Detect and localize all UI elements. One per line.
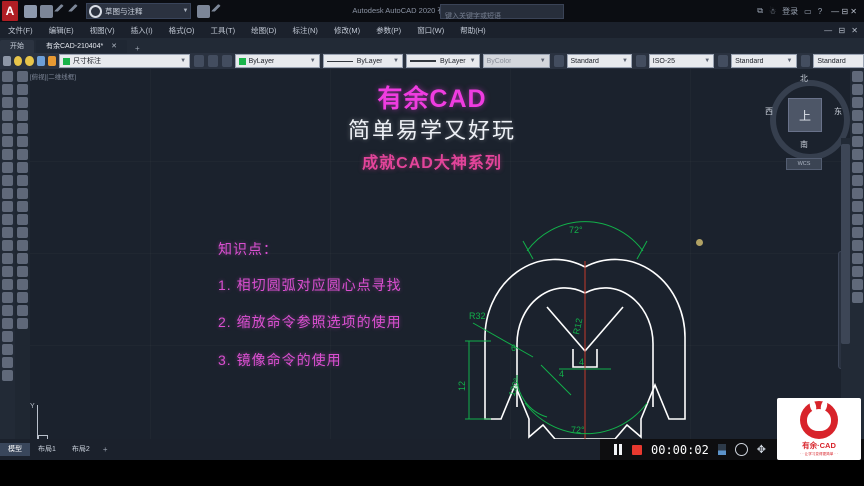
- menu-item-file[interactable]: 文件(F): [0, 25, 41, 36]
- point-icon[interactable]: [17, 240, 28, 251]
- tab-start[interactable]: 开始: [0, 40, 34, 53]
- slide-title-main: 有余CAD: [0, 79, 864, 115]
- dimension-style-icon[interactable]: [636, 55, 646, 67]
- region-icon[interactable]: [17, 279, 28, 290]
- customize-qat-icon[interactable]: [211, 3, 227, 19]
- design-center-icon[interactable]: [852, 201, 863, 212]
- signin-label[interactable]: 登录: [782, 6, 798, 17]
- tool-palettes-icon[interactable]: [852, 214, 863, 225]
- cad-drawing[interactable]: 72° R32 6 R12 4 12 120° 4: [455, 189, 715, 439]
- multileader-style-icon[interactable]: [801, 55, 811, 67]
- gear-icon: [89, 5, 102, 18]
- document-window-controls[interactable]: — ⊟ ✕: [824, 26, 860, 35]
- dim-120: 120°: [507, 376, 522, 397]
- layer-combo[interactable]: 尺寸标注 ▼: [59, 54, 190, 68]
- vertical-scrollbar[interactable]: [841, 138, 850, 439]
- scale-icon[interactable]: [2, 162, 13, 173]
- ucs-y-label: Y: [30, 403, 35, 410]
- hatch-icon[interactable]: [17, 253, 28, 264]
- table-style-icon[interactable]: [718, 55, 728, 67]
- rabbit-logo-icon: [800, 401, 838, 439]
- view-cube[interactable]: 上 北 南 西 东 WCS: [762, 74, 846, 160]
- menu-item-insert[interactable]: 插入(I): [123, 25, 161, 36]
- layer-value: 尺寸标注: [73, 56, 101, 66]
- linetype-preview-icon: [327, 61, 353, 62]
- ellipse-arc-icon[interactable]: [17, 201, 28, 212]
- search-input[interactable]: 键入关键字或短语: [440, 4, 564, 19]
- spline-icon[interactable]: [17, 175, 28, 186]
- mouse-cursor: [694, 237, 705, 248]
- view-cube-south[interactable]: 南: [800, 139, 808, 150]
- ellipse-icon[interactable]: [17, 188, 28, 199]
- workspace-label: 草图与注释: [105, 6, 143, 17]
- new-layout-button[interactable]: +: [98, 445, 113, 454]
- leader-icon[interactable]: [2, 331, 13, 342]
- chamfer-icon[interactable]: [2, 240, 13, 251]
- multileader-style-value: Standard: [817, 58, 845, 65]
- add-selected-icon[interactable]: [17, 318, 28, 329]
- move-icon[interactable]: [2, 136, 13, 147]
- polyline-icon[interactable]: [17, 97, 28, 108]
- redo-icon[interactable]: [68, 3, 84, 19]
- insert-block-icon[interactable]: [17, 214, 28, 225]
- line-icon[interactable]: [17, 71, 28, 82]
- zoom-scale-icon[interactable]: [852, 97, 863, 108]
- circle-icon[interactable]: [17, 149, 28, 160]
- polygon-icon[interactable]: [17, 110, 28, 121]
- watermark-logo: 有余·CAD · · 让学习变得更简单 · ·: [777, 398, 861, 460]
- chevron-down-icon[interactable]: ▼: [180, 58, 186, 64]
- quick-access-toolbar: A 草图与注释 ▼: [0, 0, 224, 22]
- chevron-down-icon[interactable]: ▼: [622, 58, 628, 64]
- view-cube-east[interactable]: 东: [834, 106, 842, 117]
- join-icon[interactable]: [2, 227, 13, 238]
- tab-drawing-label: 有余CAD-210404*: [46, 43, 103, 50]
- chevron-down-icon[interactable]: ▼: [704, 58, 710, 64]
- menu-item-format[interactable]: 格式(O): [161, 25, 203, 36]
- table-style-value: Standard: [735, 58, 763, 65]
- tab-layout1[interactable]: 布局1: [30, 443, 64, 456]
- view-cube-north[interactable]: 北: [800, 73, 808, 84]
- text-style-combo[interactable]: Standard ▼: [567, 54, 632, 68]
- volume-icon[interactable]: [718, 444, 726, 455]
- lineweight-preview-icon: [410, 60, 436, 62]
- autocad-logo-icon[interactable]: A: [2, 1, 18, 21]
- layer-color-swatch: [63, 58, 70, 65]
- properties-icon[interactable]: [852, 188, 863, 199]
- object-color-swatch: [239, 58, 246, 65]
- break-icon[interactable]: [2, 214, 13, 225]
- pause-button[interactable]: [614, 444, 623, 455]
- chevron-down-icon[interactable]: ▼: [787, 58, 793, 64]
- tab-model[interactable]: 模型: [0, 443, 30, 456]
- menu-item-parametric[interactable]: 参数(P): [368, 25, 409, 36]
- view-cube-west[interactable]: 西: [765, 106, 773, 117]
- letterbox-bottom: [0, 460, 864, 486]
- menu-item-edit[interactable]: 编辑(E): [41, 25, 82, 36]
- offset-icon[interactable]: [2, 110, 13, 121]
- left-toolbar-modify[interactable]: [0, 69, 15, 441]
- make-block-icon[interactable]: [17, 227, 28, 238]
- watermark-name: 有余·CAD: [802, 440, 836, 451]
- copy-icon[interactable]: [2, 84, 13, 95]
- linear-dimension-icon[interactable]: [2, 279, 13, 290]
- dimension-style-combo[interactable]: ISO-25 ▼: [649, 54, 714, 68]
- watermark-sub: · · 让学习变得更简单 · ·: [800, 452, 838, 457]
- fillet-icon[interactable]: [2, 253, 13, 264]
- text-style-icon[interactable]: [554, 55, 564, 67]
- user-icon[interactable]: ☃: [769, 7, 776, 16]
- text-tool-icon[interactable]: [852, 266, 863, 277]
- layer-on-icon[interactable]: [14, 56, 22, 66]
- new-file-icon[interactable]: [24, 5, 37, 18]
- dim-4-lower: 4: [559, 369, 564, 379]
- menu-bar: 文件(F) 编辑(E) 视图(V) 插入(I) 格式(O) 工具(T) 绘图(D…: [0, 22, 864, 38]
- rectangle-icon[interactable]: [17, 123, 28, 134]
- xref-icon[interactable]: [852, 292, 863, 303]
- dim-12: 12: [457, 381, 467, 391]
- plotstyle-value: ByColor: [487, 58, 512, 65]
- view-cube-top-face[interactable]: 上: [788, 98, 822, 132]
- chevron-down-icon: ▼: [540, 58, 546, 64]
- undo-icon[interactable]: [54, 3, 70, 19]
- layer-lock-icon[interactable]: [48, 56, 56, 66]
- multileader-style-combo[interactable]: Standard: [813, 54, 864, 68]
- autocad-window: A 草图与注释 ▼ Autodesk AutoCAD 2020 有余CAD-21…: [0, 0, 864, 486]
- tab-drawing[interactable]: 有余CAD-210404* ✕: [36, 40, 127, 53]
- menu-item-draw[interactable]: 绘图(D): [243, 25, 284, 36]
- title-bar-right: ⧉ ☃ 登录 ▭ ? — ⊟ ✕: [757, 0, 860, 22]
- quick-calc-icon[interactable]: [852, 253, 863, 264]
- tab-layout2[interactable]: 布局2: [64, 443, 98, 456]
- app-store-icon[interactable]: ▭: [804, 7, 812, 16]
- erase-icon[interactable]: [2, 71, 13, 82]
- trim-icon[interactable]: [2, 188, 13, 199]
- left-toolbar-draw[interactable]: [15, 69, 30, 441]
- settings-icon[interactable]: [735, 443, 748, 456]
- angular-dimension-icon[interactable]: [2, 318, 13, 329]
- dim-r32: R32: [469, 311, 486, 321]
- zoom-center-icon[interactable]: [852, 110, 863, 121]
- linetype-value: ByLayer: [357, 58, 383, 65]
- arc-icon[interactable]: [17, 136, 28, 147]
- dim-4-center: 4: [579, 357, 584, 367]
- multiline-text-icon[interactable]: [17, 305, 28, 316]
- properties-toolbar: 尺寸标注 ▼ ByLayer ▼ ByLayer ▼ ByLayer ▼ ByC…: [0, 53, 864, 69]
- dim-style-icon[interactable]: [2, 370, 13, 381]
- tolerance-icon[interactable]: [2, 344, 13, 355]
- construction-line-icon[interactable]: [17, 84, 28, 95]
- extend-icon[interactable]: [2, 201, 13, 212]
- move-handle-icon[interactable]: ✥: [757, 443, 766, 456]
- save-icon[interactable]: [40, 5, 53, 18]
- knowledge-point-2: 2. 缩放命令参照选项的使用: [218, 312, 402, 332]
- dimension-style-value: ISO-25: [653, 58, 675, 65]
- layer-sun-icon[interactable]: [25, 56, 33, 66]
- chevron-down-icon[interactable]: ▼: [393, 58, 399, 64]
- menu-item-modify[interactable]: 修改(M): [326, 25, 368, 36]
- close-icon[interactable]: ✕: [111, 43, 117, 50]
- window-controls[interactable]: — ⊟ ✕: [828, 7, 860, 16]
- stop-button[interactable]: [632, 445, 642, 455]
- center-mark-icon[interactable]: [2, 357, 13, 368]
- explode-icon[interactable]: [2, 266, 13, 277]
- mirror-icon[interactable]: [2, 97, 13, 108]
- zoom-object-icon[interactable]: [852, 123, 863, 134]
- aligned-dimension-icon[interactable]: [2, 292, 13, 303]
- knowledge-header: 知识点：: [218, 239, 278, 259]
- zoom-window-icon[interactable]: [852, 71, 863, 82]
- layer-previous-icon[interactable]: [194, 55, 204, 67]
- menu-item-tools[interactable]: 工具(T): [203, 25, 244, 36]
- slide-title-series: 成就CAD大神系列: [0, 149, 864, 173]
- color-combo[interactable]: ByLayer ▼: [235, 54, 320, 68]
- share-icon[interactable]: ⧉: [757, 6, 763, 16]
- lineweight-value: ByLayer: [440, 58, 466, 65]
- array-icon[interactable]: [2, 123, 13, 134]
- markup-icon[interactable]: [852, 240, 863, 251]
- title-bar: A 草图与注释 ▼ Autodesk AutoCAD 2020 有余CAD-21…: [0, 0, 864, 22]
- knowledge-point-3: 3. 镜像命令的使用: [218, 350, 342, 370]
- dim-r12: R12: [571, 317, 584, 335]
- linetype-combo[interactable]: ByLayer ▼: [323, 54, 403, 68]
- zoom-all-icon[interactable]: [852, 162, 863, 173]
- ucs-icon: Y X: [36, 405, 88, 439]
- new-tab-button[interactable]: +: [129, 44, 146, 53]
- zoom-out-icon[interactable]: [852, 149, 863, 160]
- search-placeholder: 键入关键字或短语: [441, 13, 501, 20]
- chevron-down-icon[interactable]: ▼: [310, 58, 316, 64]
- wcs-selector[interactable]: WCS: [786, 158, 822, 170]
- zoom-in-icon[interactable]: [852, 136, 863, 147]
- help-icon[interactable]: ?: [818, 7, 822, 16]
- drawing-canvas[interactable]: [-][俯视][二维线框] 有余CAD 简单易学又好玩 成就CAD大神系列 知识…: [0, 69, 864, 439]
- color-value: ByLayer: [249, 58, 275, 65]
- workspace-selector[interactable]: 草图与注释 ▼: [86, 3, 191, 19]
- sheet-set-icon[interactable]: [852, 227, 863, 238]
- rotate-icon[interactable]: [2, 149, 13, 160]
- stretch-icon[interactable]: [2, 175, 13, 186]
- plot-icon[interactable]: [197, 5, 210, 18]
- right-toolbar[interactable]: [850, 69, 864, 441]
- layer-manager-icon[interactable]: [3, 56, 11, 66]
- text-style-value: Standard: [571, 58, 599, 65]
- zoom-extents-icon[interactable]: [852, 175, 863, 186]
- layer-match-icon[interactable]: [222, 55, 232, 67]
- zoom-dynamic-icon[interactable]: [852, 84, 863, 95]
- lineweight-combo[interactable]: ByLayer ▼: [406, 54, 480, 68]
- menu-item-dimension[interactable]: 标注(N): [285, 25, 326, 36]
- plotstyle-combo: ByColor ▼: [483, 54, 550, 68]
- menu-item-window[interactable]: 窗口(W): [409, 25, 452, 36]
- menu-item-help[interactable]: 帮助(H): [452, 25, 493, 36]
- layer-freeze-icon[interactable]: [37, 56, 45, 66]
- dim-72-top: 72°: [569, 225, 583, 235]
- radius-dimension-icon[interactable]: [2, 305, 13, 316]
- knowledge-point-1: 1. 相切圆弧对应圆心点寻找: [218, 275, 402, 295]
- dim-72-bottom: 72°: [571, 425, 585, 435]
- revision-cloud-icon[interactable]: [17, 162, 28, 173]
- chevron-down-icon[interactable]: ▼: [470, 58, 476, 64]
- slide-title-sub: 简单易学又好玩: [0, 113, 864, 145]
- layer-state-icon[interactable]: [208, 55, 218, 67]
- gradient-icon[interactable]: [17, 266, 28, 277]
- document-tabs: 开始 有余CAD-210404* ✕ +: [0, 38, 864, 53]
- table-style-combo[interactable]: Standard ▼: [731, 54, 796, 68]
- menu-item-view[interactable]: 视图(V): [82, 25, 123, 36]
- chevron-down-icon: ▼: [183, 8, 189, 14]
- dimension-layer: 72° R32 6 R12 4 12 120° 4: [457, 222, 693, 439]
- layer-tool-icon[interactable]: [852, 279, 863, 290]
- table-icon[interactable]: [17, 292, 28, 303]
- dim-6: 6: [511, 343, 516, 353]
- recording-timer: 00:00:02: [651, 443, 709, 457]
